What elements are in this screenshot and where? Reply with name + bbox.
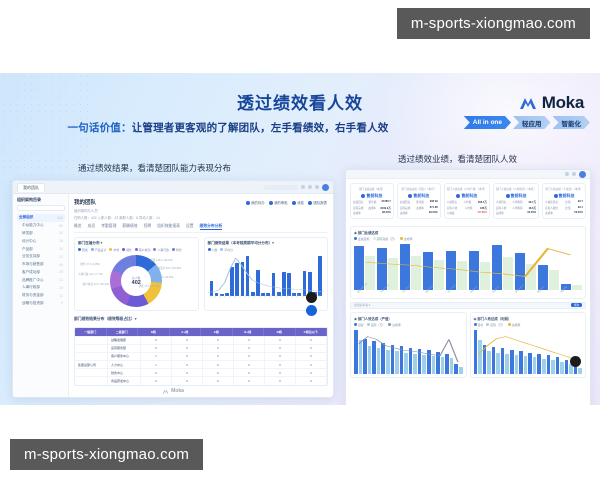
- kpi-k: 实际人效: [496, 206, 506, 210]
- legend-swatch: [508, 323, 511, 326]
- quick-actions: 我的待办我的审批消息团队报表: [246, 200, 327, 205]
- kpi-icon: [361, 194, 365, 198]
- table-cell-4: 0: [265, 344, 296, 352]
- kpi-row-3: 完成率62.00%: [496, 211, 536, 215]
- legend-swatch: [354, 323, 357, 326]
- quick-action-icon: [246, 201, 250, 205]
- kpi-v: 871.88: [430, 206, 438, 210]
- kpi-k: 完成率: [496, 211, 504, 215]
- kpi-k: 实际完成: [400, 206, 410, 210]
- chrome-icon-1[interactable]: [301, 185, 305, 189]
- sidebar-item-count: 46: [59, 263, 63, 267]
- chrome-icon-2[interactable]: [308, 185, 312, 189]
- sub-chart-rate-line: [354, 330, 463, 374]
- kpi-l: 人均值: [465, 206, 473, 210]
- legend-label: 业绩目标: [358, 237, 370, 241]
- tab-7[interactable]: 绩效分布分析: [200, 224, 223, 230]
- table-header-0[interactable]: 一级部门: [75, 328, 107, 336]
- legend-label: 平均分: [224, 248, 233, 252]
- table-cell-2: 0: [203, 368, 234, 376]
- kpi-icon: [456, 194, 460, 198]
- page-title: 透过绩效看人效: [0, 89, 600, 114]
- sidebar-item-label: 客户成功部: [22, 270, 40, 275]
- badge-all-in-one: All in one: [464, 116, 511, 129]
- table-cell-4: 0: [265, 336, 296, 344]
- kpi-row-3: 达成率98.00%: [353, 211, 391, 215]
- donut-callout-1: 产品设计 64人 (15.9%): [155, 266, 181, 270]
- kpi-row-1: 业绩目标累计额968.09: [400, 200, 438, 204]
- content-meta-1: 组织架构与人员: [74, 208, 328, 213]
- table-cell-3: 0: [234, 336, 265, 344]
- tab-3[interactable]: 薪酬绩效: [122, 224, 137, 230]
- sidebar-item-label: 业务支持部: [22, 254, 40, 259]
- legend-label: 达成率: [404, 237, 413, 241]
- bar-xlabel-9: C10: [253, 294, 257, 298]
- legend-label: 人数: [212, 248, 218, 252]
- sidebar-search-input[interactable]: [17, 205, 65, 211]
- watermark-bottom: m-sports-xiongmao.com: [10, 439, 203, 470]
- table-cell-4: 0: [265, 368, 296, 376]
- kpi-row-1: 业绩目标累计额¥7286.7: [353, 200, 391, 204]
- kpi-k: 人效比目标: [545, 200, 558, 204]
- kpi-row-2: 实际人效比比值¥2.1: [545, 206, 583, 210]
- sub-charts-row: ◉ 部门人效达成（产值）目标实际（万）达成率◉ 部门人效达成（利润）目标实际（万…: [350, 312, 586, 378]
- sidebar-item-count: 31: [59, 255, 63, 259]
- table-row[interactable]: 集团总部公司人力中心100000: [75, 360, 327, 368]
- table-cell-sub: 人力中心: [108, 360, 141, 368]
- subtitle-prefix: 一句话价值：: [67, 122, 131, 134]
- table-cell-5: 0: [296, 368, 327, 376]
- sidebar-item-label: 研发部: [22, 231, 33, 236]
- kpi-row-3: 达成率99.00%: [400, 211, 438, 215]
- sidebar-item-9[interactable]: 人事行政部15: [17, 284, 65, 292]
- sidebar-header: 组织架构目录: [17, 197, 65, 203]
- donut-callout-3: 销售 72人 (17.9%): [139, 284, 160, 288]
- legend-label: 人事行政: [157, 248, 169, 252]
- legend-swatch: [474, 323, 477, 326]
- legend-swatch: [373, 237, 376, 240]
- kpi-card-1[interactable]: 部门业绩达成（同比）（本月）售前科技业绩目标累计额968.09实际完成达成率87…: [397, 183, 441, 219]
- table-row[interactable]: 财务中心000000: [75, 368, 327, 376]
- bar-chart-trend-line: [208, 256, 325, 296]
- kpi-k: 实际完成: [353, 206, 363, 210]
- donut-legend: 研发产品设计市场销售客户成功人事行政财务: [78, 248, 195, 252]
- donut-legend-item-4: 客户成功: [135, 248, 151, 252]
- moka-mountain-icon-footer: [162, 389, 169, 394]
- main-chart-section: ◉ 部门业绩达成 业绩目标实际完成（万）达成率 售前科技公司华南分公司华东分公司…: [350, 226, 586, 299]
- donut-center-value: 402: [132, 280, 141, 286]
- kpi-icon: [506, 194, 510, 198]
- quick-action-label: 消息: [297, 200, 304, 205]
- sidebar-item-6[interactable]: 市场与销售部46: [17, 261, 65, 269]
- bar-xlabel-12: C13: [269, 294, 273, 298]
- sidebar-item-count: 24: [59, 247, 63, 251]
- sidebar-item-label: 财务与资金部: [22, 293, 44, 298]
- right-dashboard-panel: 部门业绩达成（本月）售前科技业绩目标累计额¥7286.7实际完成达成率8409.…: [345, 169, 591, 405]
- kpi-v: 78.00%: [574, 211, 583, 215]
- filter-query-button[interactable]: 查询: [571, 303, 582, 307]
- table-cell-4: 0: [265, 352, 296, 360]
- legend-label: 达成率: [512, 323, 521, 327]
- sidebar-item-7[interactable]: 客户成功部29: [17, 268, 65, 276]
- bar-xlabel-14: C15: [280, 294, 284, 298]
- bar-xlabel-17: C18: [296, 294, 300, 298]
- table-cell-1: 0: [172, 360, 203, 368]
- table-header-3[interactable]: A+档: [170, 328, 202, 336]
- table-cell-sub: 财务中心: [108, 368, 141, 376]
- sidebar-item-count: 432: [57, 216, 63, 220]
- kpi-icon: [408, 194, 412, 198]
- legend-swatch: [153, 248, 156, 251]
- kpi-icon: [554, 194, 558, 198]
- chrome-icon-3[interactable]: [315, 185, 319, 189]
- kpi-v: -87.66%: [477, 211, 487, 215]
- kpi-l: 比值: [565, 200, 570, 204]
- sidebar-item-5[interactable]: 业务支持部31: [17, 253, 65, 261]
- bar-legend: 人数平均分: [208, 248, 325, 252]
- kpi-k: 达成率: [400, 211, 408, 215]
- sidebar-items: 全部组织432中台能力中心86研发部52设计中心18产品部24业务支持部31市场…: [17, 214, 65, 307]
- moka-wordmark: Moka: [542, 93, 584, 113]
- donut-callout-5: 人事行政 31人 (7.7%): [78, 272, 103, 276]
- table-cell-3: 0: [234, 352, 265, 360]
- donut-card-title: 部门在编分布 ▾: [78, 241, 195, 246]
- sub-chart-title: ◉ 部门人效达成（产值）: [354, 316, 463, 321]
- sub-legend-item-1: 实际（万）: [367, 323, 385, 327]
- legend-swatch: [109, 248, 112, 251]
- table-row[interactable]: 客户服务中心100000: [75, 352, 327, 360]
- table-cell-5: 0: [296, 360, 327, 368]
- footer-brand-text: Moka: [171, 388, 184, 394]
- table-row[interactable]: 运营服务部000000: [75, 344, 327, 352]
- kpi-k: 实际人效: [447, 206, 457, 210]
- legend-label: 目标: [478, 323, 484, 327]
- legend-label: 销售: [126, 248, 132, 252]
- browser-tab[interactable]: 我的团队: [17, 183, 45, 192]
- kpi-l: 人均利润: [512, 206, 522, 210]
- kpi-k: 人效目标: [447, 200, 457, 204]
- table-cell-dept: [75, 336, 108, 344]
- bar-card-title: 部门绩效结果（本考核周期平均分分布）▾: [208, 241, 325, 246]
- legend-swatch: [220, 248, 223, 251]
- tab-6[interactable]: 设置: [186, 224, 194, 230]
- table-header-1[interactable]: 二级部门: [107, 328, 139, 336]
- kpi-row-1: 人效目标人均值268.7万: [447, 200, 487, 204]
- legend-label: 客户成功: [139, 248, 151, 252]
- sidebar-item-count: 52: [59, 231, 63, 235]
- sidebar-item-2[interactable]: 研发部52: [17, 230, 65, 238]
- feature-badges: All in one 轻应用 智能化: [464, 116, 590, 129]
- table-cell-1: 0: [172, 368, 203, 376]
- table-cell-2: 0: [203, 360, 234, 368]
- sub-legend-item-2: 达成率: [508, 323, 521, 327]
- sidebar-item-label: 市场与销售部: [22, 262, 44, 267]
- table-cell-3: 0: [234, 376, 265, 384]
- table-cell-5: 0: [296, 336, 327, 344]
- kpi-l: 累计额: [369, 200, 377, 204]
- table-cell-dept: [75, 368, 108, 376]
- kpi-row-1: 人效目标人均利润29.7万: [496, 200, 536, 204]
- chrome-right-icon-2[interactable]: [572, 172, 576, 176]
- avatar-right[interactable]: [579, 171, 586, 178]
- quick-action-icon: [292, 201, 296, 205]
- table-header-5[interactable]: B+档: [233, 328, 265, 336]
- kpi-row-3: 人效差-87.66%: [447, 211, 487, 215]
- table-cell-1: 0: [172, 344, 203, 352]
- filter-label: 按组织查看 ▾: [354, 303, 370, 307]
- bar-legend-item-0: 人数: [208, 248, 218, 252]
- avatar[interactable]: [322, 184, 329, 191]
- tab-0[interactable]: 概览: [74, 224, 82, 230]
- table-header-6[interactable]: B档: [264, 328, 296, 336]
- quick-action-2[interactable]: 消息: [292, 200, 304, 205]
- sidebar-item-11[interactable]: 战略与投资部9: [17, 300, 65, 308]
- kpi-v: ¥7286.7: [381, 200, 390, 204]
- kpi-row-2: 实际人效人均值188万: [447, 206, 487, 210]
- table-body: 战略发展部000000运营服务部000000客户服务中心100000集团总部公司…: [75, 336, 327, 385]
- table-row[interactable]: 战略发展部000000: [75, 336, 327, 344]
- legend-swatch: [400, 237, 403, 240]
- bar-xlabel-2: C3: [219, 294, 223, 298]
- sub-chart-bars: [354, 330, 463, 374]
- left-panel-body: 组织架构目录 全部组织432中台能力中心86研发部52设计中心18产品部24业务…: [13, 194, 333, 397]
- table-cell-5: 0: [296, 344, 327, 352]
- tab-5[interactable]: 组织效能报表: [157, 224, 180, 230]
- donut-chart: 总人数 402 研发 118人 (29.4%)产品设计 64人 (15.9%)市…: [78, 255, 195, 307]
- donut-legend-item-5: 人事行政: [153, 248, 169, 252]
- table-cell-5: 0: [296, 376, 327, 384]
- kpi-v: 99.00%: [429, 211, 438, 215]
- table-cell-sub: 客户服务中心: [108, 352, 141, 360]
- chrome-right-icon-1[interactable]: [565, 172, 569, 176]
- sub-chart-legend: 目标实际（万）达成率: [354, 323, 463, 327]
- kpi-k: 达成率: [545, 211, 553, 215]
- table-cell-3: 0: [234, 368, 265, 376]
- legend-label: 财务: [176, 248, 182, 252]
- donut-legend-item-2: 市场: [109, 248, 119, 252]
- kpi-v: ¥2.1: [578, 206, 583, 210]
- donut-legend-item-3: 销售: [122, 248, 132, 252]
- legend-label: 市场: [113, 248, 119, 252]
- table-title: 部门绩效结果分布（绩效等级占比）▾: [74, 316, 328, 322]
- tab-4[interactable]: 招聘: [144, 224, 152, 230]
- donut-callout-6: 财务 27人 (6.8%): [80, 262, 100, 266]
- legend-swatch: [135, 248, 138, 251]
- sidebar-item-count: 9: [61, 301, 63, 305]
- kpi-row-1: 人效比目标比值¥2.7: [545, 200, 583, 204]
- donut-ring: 总人数 402: [110, 255, 162, 307]
- sidebar-item-label: 中台能力中心: [22, 223, 44, 228]
- sidebar-item-label: 战略与投资部: [22, 301, 44, 306]
- kpi-head: 部门人效达成（人均利润）（本月）: [496, 187, 536, 191]
- table-cell-2: 0: [203, 344, 234, 352]
- main-legend-item-0: 业绩目标: [354, 237, 370, 241]
- legend-swatch: [486, 323, 489, 326]
- sidebar-item-4[interactable]: 产品部24: [17, 245, 65, 253]
- bar-xlabel-3: C4: [224, 294, 228, 298]
- kpi-card-4[interactable]: 部门人效达成（人效比）（本月）售前科技人效比目标比值¥2.7实际人效比比值¥2.…: [542, 183, 586, 219]
- table-cell-3: 0: [234, 360, 265, 368]
- table-cell-4: 0: [265, 360, 296, 368]
- kpi-card-2[interactable]: 部门人效达成（人均产值）（本月）售前科技人效目标人均值268.7万实际人效人均值…: [444, 183, 490, 219]
- kpi-row-2: 实际完成达成率8409.9万: [353, 206, 391, 210]
- table-header-row: 一级部门二级部门S档A+档A档B+档B档C档及以下: [75, 328, 327, 336]
- kpi-v: 62.00%: [527, 211, 536, 215]
- sidebar-item-label: 产品部: [22, 247, 33, 252]
- kpi-k: 实际人效比: [545, 206, 558, 210]
- sidebar-item-count: 18: [59, 239, 63, 243]
- kpi-k: 业绩目标: [353, 200, 363, 204]
- legend-swatch: [354, 237, 357, 240]
- table-cell-sub: 战略发展部: [108, 336, 141, 344]
- kpi-card-0[interactable]: 部门业绩达成（本月）售前科技业绩目标累计额¥7286.7实际完成达成率8409.…: [350, 183, 394, 219]
- sub-legend-item-1: 实际（万）: [486, 323, 504, 327]
- kpi-l: 人均值: [464, 200, 472, 204]
- quick-action-1[interactable]: 我的审批: [269, 200, 288, 205]
- table-cell-0: 1: [141, 360, 172, 368]
- table-cell-dept: [75, 352, 108, 360]
- address-bar[interactable]: [264, 185, 298, 190]
- quick-action-0[interactable]: 我的待办: [246, 200, 265, 205]
- legend-label: 实际完成（万）: [377, 237, 397, 241]
- sidebar-item-label: 全部组织: [19, 215, 33, 220]
- table-cell-5: 0: [296, 352, 327, 360]
- table-cell-0: 0: [141, 368, 172, 376]
- sub-chart-legend: 目标实际（万）达成率: [474, 323, 583, 327]
- table-cell-sub: 商品研发中心: [108, 376, 141, 384]
- kpi-v: 968.09: [430, 200, 438, 204]
- performance-table: 一级部门二级部门S档A+档A档B+档B档C档及以下 战略发展部000000运营服…: [74, 327, 328, 386]
- kpi-v: ¥2.7: [578, 200, 583, 204]
- kpi-v: 29.7万: [528, 200, 536, 204]
- sub-legend-item-0: 目标: [474, 323, 484, 327]
- kpi-k: 达成率: [353, 211, 361, 215]
- cursor-marker-blue: [306, 305, 317, 316]
- sub-chart-bars: [474, 330, 583, 374]
- kpi-head: 部门业绩达成（本月）: [353, 187, 391, 191]
- bar-chart: [208, 256, 325, 296]
- legend-label: 达成率: [392, 323, 401, 327]
- sidebar-item-10[interactable]: 财务与资金部11: [17, 292, 65, 300]
- table-cell-dept: 集团总部公司: [75, 360, 108, 368]
- table-cell-2: 0: [203, 352, 234, 360]
- legend-swatch: [78, 248, 81, 251]
- bar-xlabel-4: C5: [229, 294, 233, 298]
- main-chart-title: ◉ 部门业绩达成: [354, 230, 582, 235]
- left-dashboard-panel: 我的团队 组织架构目录 全部组织432中台能力中心86研发部52设计中心18产品…: [12, 180, 334, 398]
- donut-legend-item-1: 产品设计: [91, 248, 107, 252]
- chrome-controls: [264, 184, 329, 191]
- kpi-l: 达成率: [416, 206, 424, 210]
- sidebar-item-8[interactable]: 品牌推广中心12: [17, 276, 65, 284]
- kpi-head: 部门人效达成（人效比）（本月）: [545, 187, 583, 191]
- kpi-l: 人均利润: [512, 200, 522, 204]
- legend-label: 实际（万）: [371, 323, 385, 327]
- kpi-row-3: 达成率78.00%: [545, 211, 583, 215]
- table-header-7[interactable]: C档及以下: [296, 328, 328, 336]
- sidebar-item-count: 12: [59, 278, 63, 282]
- donut-callout-4: 客户成功 42人 (10.4%): [83, 282, 109, 286]
- sidebar-item-count: 29: [59, 270, 63, 274]
- table-cell-0: 0: [141, 376, 172, 384]
- table-header-2[interactable]: S档: [138, 328, 170, 336]
- main-content: 我的团队 组织架构与人员 在职人数：432 入职人数：22 离职人数：8 异动人…: [69, 194, 333, 397]
- slide-canvas: 透过绩效看人效 一句话价值：让管理者更客观的了解团队，左手看绩效，右手看人效 M…: [0, 73, 600, 405]
- sidebar-item-3[interactable]: 设计中心18: [17, 237, 65, 245]
- legend-swatch: [91, 248, 94, 251]
- sidebar-item-count: 86: [59, 224, 63, 228]
- tab-1[interactable]: 成员: [88, 224, 96, 230]
- table-cell-dept: [75, 344, 108, 352]
- kpi-k: 人效差: [447, 211, 455, 215]
- donut-legend-item-0: 研发: [78, 248, 88, 252]
- table-cell-2: 0: [203, 336, 234, 344]
- moka-logo: Moka: [518, 93, 584, 113]
- sidebar-item-0[interactable]: 全部组织432: [17, 214, 65, 222]
- legend-label: 产品设计: [95, 248, 107, 252]
- table-cell-sub: 运营服务部: [108, 344, 141, 352]
- sub-legend-item-0: 目标: [354, 323, 364, 327]
- tab-2[interactable]: 考勤管理: [101, 224, 116, 230]
- subtitle-rest: 让管理者更客观的了解团队，左手看绩效，右手看人效: [132, 122, 389, 134]
- quick-action-icon: [308, 201, 312, 205]
- kpi-brand: 售前科技: [447, 193, 487, 199]
- kpi-row-2: 实际完成达成率871.88: [400, 206, 438, 210]
- sub-legend-item-2: 达成率: [388, 323, 401, 327]
- table-header-4[interactable]: A档: [201, 328, 233, 336]
- cursor-marker-dark: [306, 292, 317, 303]
- sub-chart-0: ◉ 部门人效达成（产值）目标实际（万）达成率: [350, 312, 467, 378]
- donut-center-label: 总人数: [132, 276, 141, 280]
- sub-chart-title: ◉ 部门人效达成（利润）: [474, 316, 583, 321]
- kpi-l: 达成率: [368, 206, 376, 210]
- legend-swatch: [122, 248, 125, 251]
- quick-action-label: 我的审批: [274, 200, 288, 205]
- table-row[interactable]: 商品研发中心000000: [75, 376, 327, 384]
- content-meta-2: 在职人数：432 入职人数：22 离职人数：8 异动人数：14: [74, 215, 328, 220]
- table-cell-4: 0: [265, 376, 296, 384]
- sidebar-item-1[interactable]: 中台能力中心86: [17, 222, 65, 230]
- kpi-l: 累计额: [416, 200, 424, 204]
- kpi-brand: 售前科技: [496, 193, 536, 199]
- legend-label: 研发: [82, 248, 88, 252]
- kpi-card-3[interactable]: 部门人效达成（人均利润）（本月）售前科技人效目标人均利润29.7万实际人效人均利…: [493, 183, 539, 219]
- quick-action-icon: [269, 201, 273, 205]
- donut-card: 部门在编分布 ▾ 研发产品设计市场销售客户成功人事行政财务 总人数 402 研发…: [74, 237, 199, 311]
- sub-chart-rate-line: [474, 330, 583, 374]
- donut-callout-2: 市场 48人 (11.9%): [153, 275, 174, 279]
- table-cell-dept: [75, 376, 108, 384]
- legend-swatch: [172, 248, 175, 251]
- legend-swatch: [208, 248, 211, 251]
- kpi-brand: 售前科技: [545, 193, 583, 199]
- kpi-v: 98.00%: [382, 211, 391, 215]
- content-tabs: 概览成员考勤管理薪酬绩效招聘组织效能报表设置绩效分布分析: [74, 224, 328, 233]
- table-cell-1: 0: [172, 336, 203, 344]
- donut-center: 总人数 402: [132, 276, 141, 286]
- kpi-cards: 部门业绩达成（本月）售前科技业绩目标累计额¥7286.7实际完成达成率8409.…: [346, 179, 590, 223]
- sidebar-item-label: 设计中心: [22, 239, 36, 244]
- quick-action-label: 我的待办: [251, 200, 265, 205]
- table-cell-2: 0: [203, 376, 234, 384]
- donut-callout-0: 研发 118人 (29.4%): [150, 258, 172, 262]
- table-cell-0: 1: [141, 352, 172, 360]
- watermark-top: m-sports-xiongmao.com: [397, 8, 590, 39]
- legend-swatch: [367, 323, 370, 326]
- moka-mountain-icon: [518, 96, 538, 110]
- filter-bar[interactable]: 按组织查看 ▾ 查询: [350, 302, 586, 309]
- quick-action-3[interactable]: 团队报表: [308, 200, 327, 205]
